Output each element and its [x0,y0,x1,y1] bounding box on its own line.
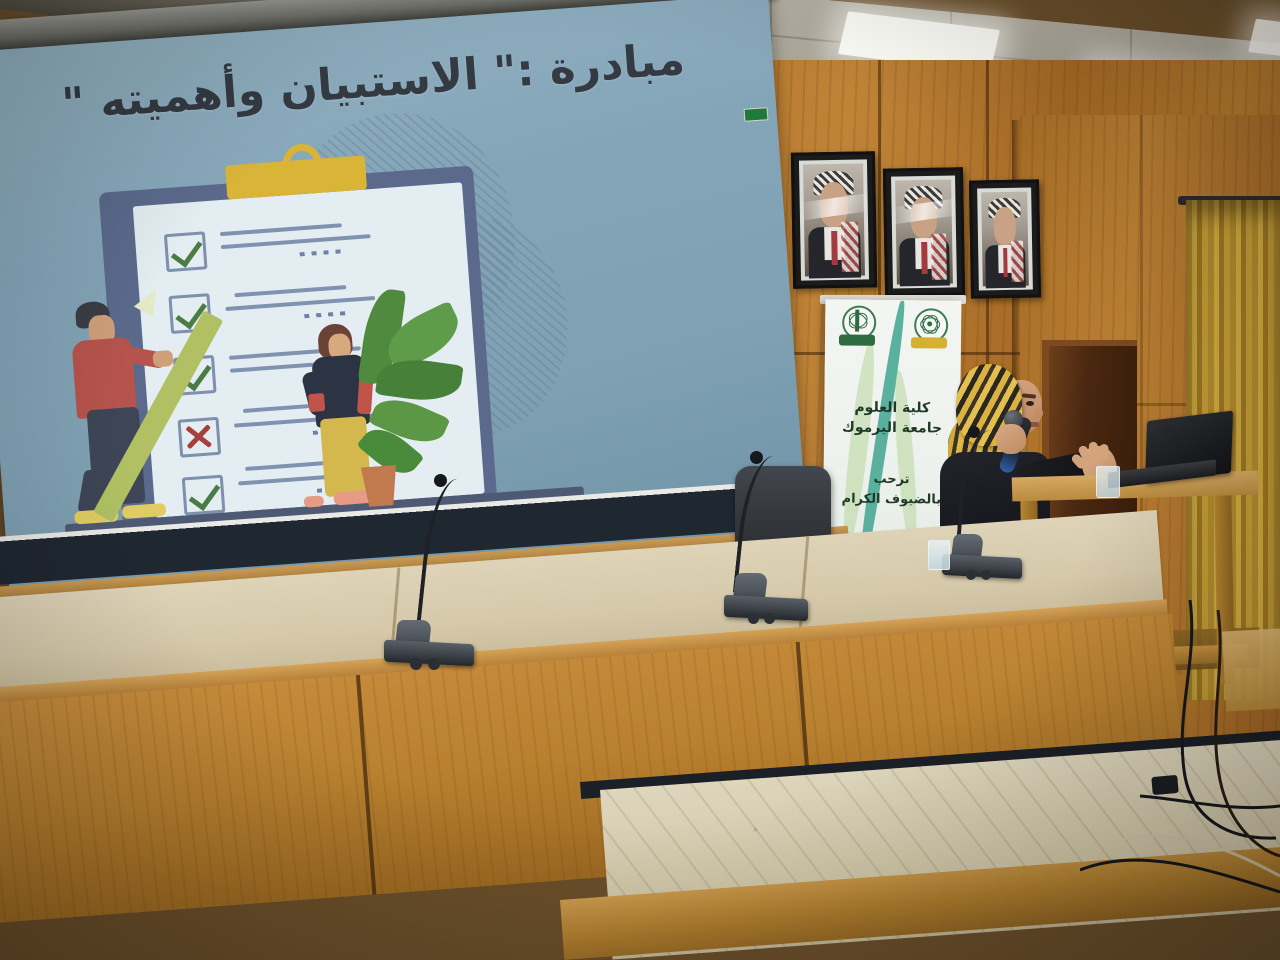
gooseneck-conference-microphone[interactable] [712,455,822,625]
presenter-eye [1026,401,1034,406]
royal-portrait-right [969,179,1041,298]
gooseneck-conference-microphone[interactable] [388,478,498,658]
faculty-of-science-atom-crest-icon [911,308,947,348]
floor-cables [1080,600,1280,900]
royal-portrait-center [883,167,965,296]
water-glass [928,540,950,570]
cable-connector-box [1151,775,1178,795]
checkbox [182,475,226,516]
lecture-hall-photo: مبادرة :" الاستبيان وأهميته " [0,0,1280,960]
water-glass [1096,466,1120,498]
yarmouk-university-crest-icon [839,305,875,345]
checkbox [164,231,208,272]
checkbox [177,417,221,458]
presenter-nose [1035,408,1043,418]
slide-coffee-cup [308,393,325,412]
royal-portrait-left [791,151,877,288]
exit-sign [744,107,769,122]
